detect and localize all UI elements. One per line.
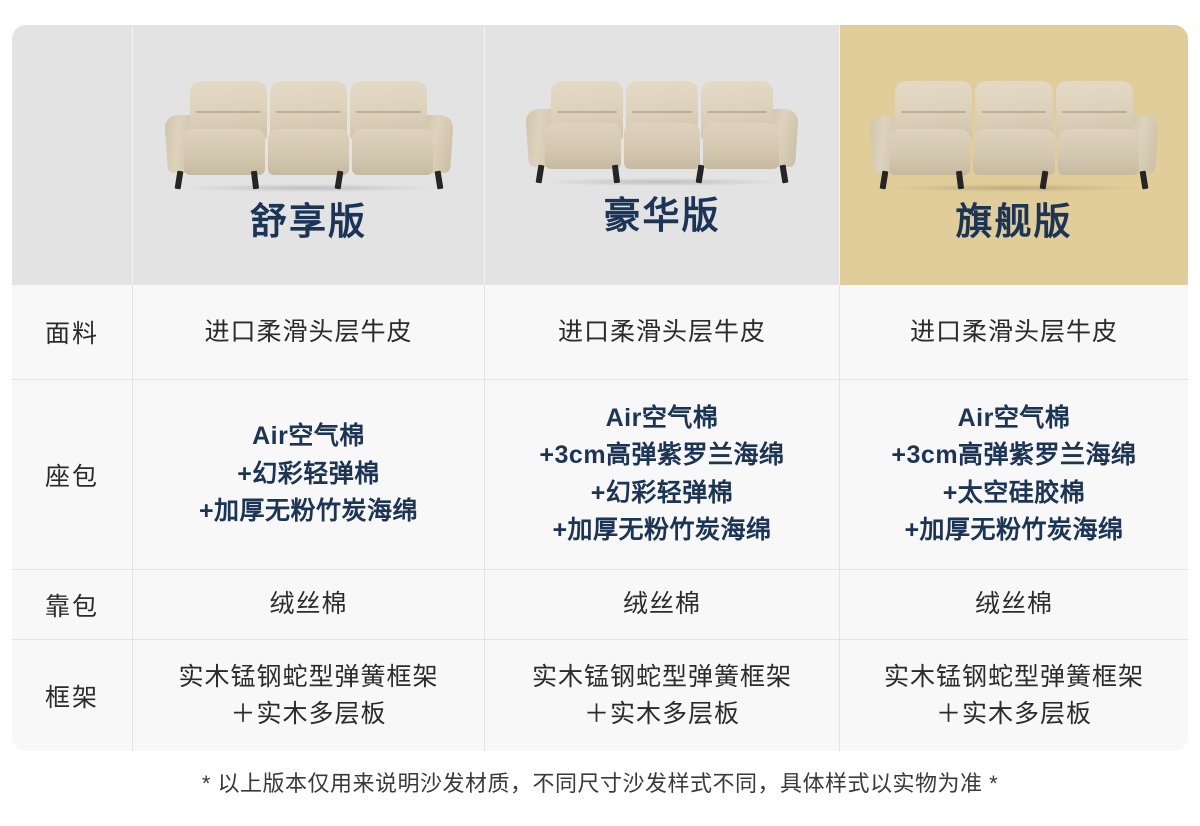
cell-seat-comfort: Air空气棉 +幻彩轻弹棉 +加厚无粉竹炭海绵	[133, 380, 485, 570]
row-label-fabric: 面料	[12, 285, 133, 380]
row-label-back-cushion: 靠包	[12, 570, 133, 640]
cell-back-flagship: 绒丝棉	[840, 570, 1188, 640]
sofa-seat	[624, 123, 700, 169]
cell-back-comfort: 绒丝棉	[133, 570, 485, 640]
sofa-icon	[871, 77, 1157, 187]
sofa-seat	[973, 129, 1054, 175]
cell-seat-flagship: Air空气棉 +3cm高弹紫罗兰海绵 +太空硅胶棉 +加厚无粉竹炭海绵	[840, 380, 1188, 570]
column-header-deluxe[interactable]: 豪华版	[485, 25, 840, 285]
sofa-leg	[1140, 171, 1149, 190]
sofa-shadow	[183, 184, 435, 192]
column-header-comfort[interactable]: 舒享版	[133, 25, 485, 285]
cell-seat-deluxe: Air空气棉 +3cm高弹紫罗兰海绵 +幻彩轻弹棉 +加厚无粉竹炭海绵	[485, 380, 840, 570]
sofa-shadow	[888, 184, 1140, 192]
spec-comparison-table: 舒享版	[12, 25, 1188, 751]
sofa-leg	[174, 171, 183, 190]
plan-title-comfort: 舒享版	[250, 203, 367, 240]
disclaimer-footnote: * 以上版本仅用来说明沙发材质，不同尺寸沙发样式不同，具体样式以实物为准 *	[0, 766, 1200, 798]
sofa-icon	[166, 77, 452, 187]
comparison-page: 舒享版	[0, 0, 1200, 826]
table-corner-cell	[12, 25, 133, 285]
cell-frame-comfort: 实木锰钢蛇型弹簧框架 ＋实木多层板	[133, 640, 485, 751]
sofa-seats	[545, 123, 779, 169]
column-header-flagship[interactable]: 旗舰版	[840, 25, 1188, 285]
sofa-seat	[184, 129, 265, 175]
sofa-icon	[527, 77, 797, 181]
row-label-seat-cushion: 座包	[12, 380, 133, 570]
cell-fabric-deluxe: 进口柔滑头层牛皮	[485, 285, 840, 380]
sofa-leg	[780, 165, 789, 184]
sofa-seat	[545, 123, 621, 169]
plan-title-deluxe: 豪华版	[604, 197, 721, 234]
sofa-seat	[889, 129, 970, 175]
sofa-leg	[880, 171, 889, 190]
sofa-leg	[434, 171, 443, 190]
sofa-shadow	[543, 178, 781, 186]
cell-frame-deluxe: 实木锰钢蛇型弹簧框架 ＋实木多层板	[485, 640, 840, 751]
plan-title-flagship: 旗舰版	[956, 203, 1073, 240]
cell-back-deluxe: 绒丝棉	[485, 570, 840, 640]
cell-frame-flagship: 实木锰钢蛇型弹簧框架 ＋实木多层板	[840, 640, 1188, 751]
sofa-seat	[1058, 129, 1139, 175]
sofa-seat	[703, 123, 779, 169]
sofa-seats	[889, 129, 1139, 175]
cell-fabric-comfort: 进口柔滑头层牛皮	[133, 285, 485, 380]
row-label-frame: 框架	[12, 640, 133, 751]
sofa-seat	[268, 129, 349, 175]
table-grid: 舒享版	[12, 25, 1188, 751]
sofa-seat	[352, 129, 433, 175]
sofa-seats	[184, 129, 434, 175]
cell-fabric-flagship: 进口柔滑头层牛皮	[840, 285, 1188, 380]
